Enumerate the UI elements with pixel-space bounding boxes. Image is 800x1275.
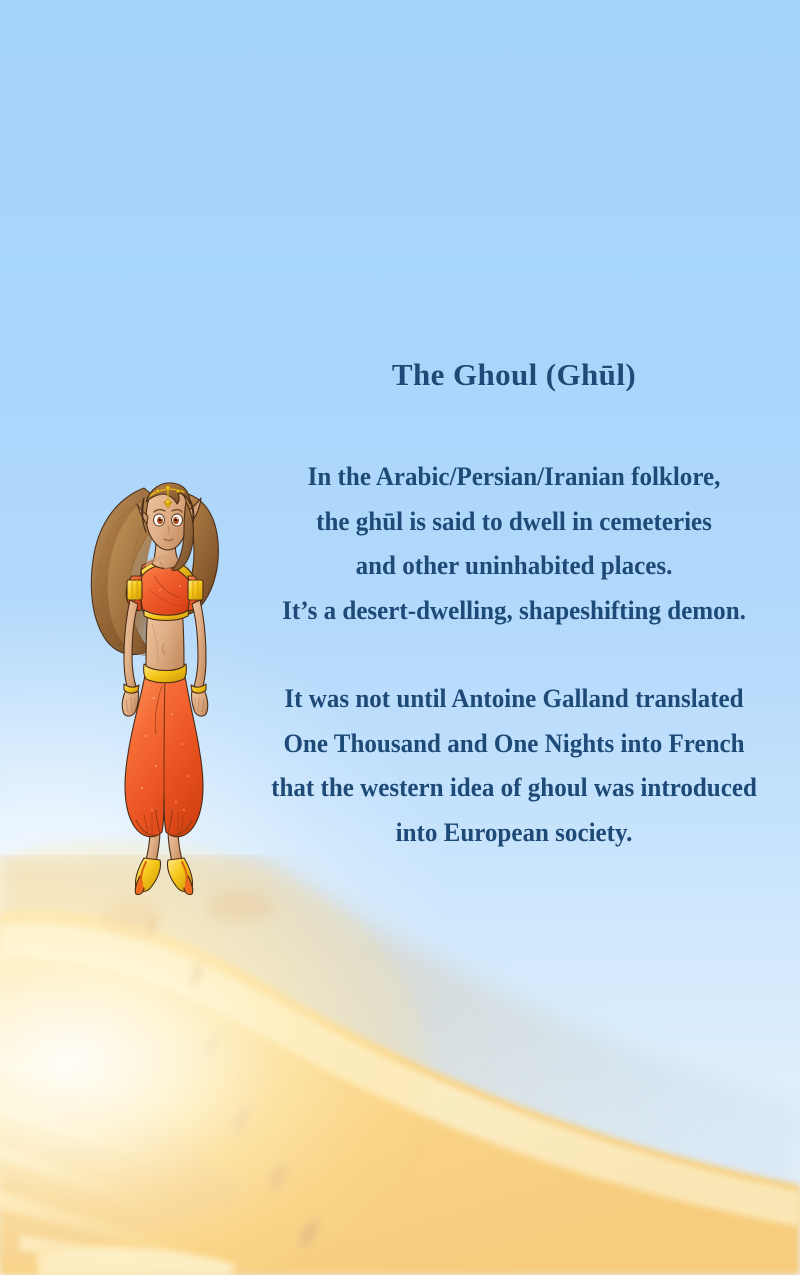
text-column: The Ghoul (Ghūl) In the Arabic/Persian/I…	[236, 358, 792, 854]
paragraph-1-line-1: In the Arabic/Persian/Iranian folklore,	[251, 454, 776, 499]
paragraph-1-line-2: the ghūl is said to dwell in cemeteries	[251, 499, 776, 544]
paragraph-2: It was not until Antoine Galland transla…	[251, 676, 776, 854]
paragraph-2-line-1: It was not until Antoine Galland transla…	[251, 676, 776, 721]
paragraph-2-line-2: One Thousand and One Nights into French	[251, 721, 776, 766]
ghoul-character-illustration	[84, 458, 244, 898]
sand-dune	[0, 855, 800, 1275]
poster-canvas: The Ghoul (Ghūl) In the Arabic/Persian/I…	[0, 0, 800, 1275]
paragraph-2-line-3: that the western idea of ghoul was intro…	[251, 765, 776, 810]
page-title: The Ghoul (Ghūl)	[236, 358, 792, 392]
paragraph-1-line-3: and other uninhabited places.	[251, 543, 776, 588]
paragraph-1: In the Arabic/Persian/Iranian folklore, …	[251, 454, 776, 632]
paragraph-spacer	[236, 632, 792, 676]
paragraph-1-line-4: It’s a desert-dwelling, shapeshifting de…	[251, 588, 776, 633]
paragraph-2-line-4: into European society.	[251, 810, 776, 855]
